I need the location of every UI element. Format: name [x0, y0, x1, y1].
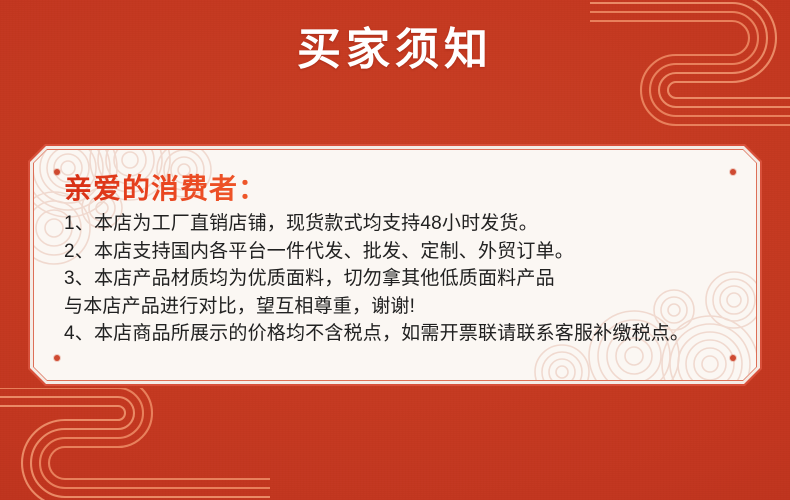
notice-line-list: 1、本店为工厂直销店铺，现货款式均支持48小时发货。 2、本店支持国内各平台一件… [64, 210, 732, 348]
page-title: 买家须知 [0, 22, 790, 78]
notice-line: 3、本店产品材质均为优质面料，切勿拿其他低质面料产品 [64, 265, 732, 293]
corner-dot-bottom-right-icon [730, 355, 736, 361]
notice-heading: 亲爱的消费者： [64, 172, 267, 206]
serpentine-lines-bottom-left-icon [0, 388, 270, 500]
corner-dot-bottom-left-icon [54, 355, 60, 361]
notice-line: 1、本店为工厂直销店铺，现货款式均支持48小时发货。 [64, 210, 732, 238]
corner-dot-top-left-icon [54, 169, 60, 175]
notice-line: 4、本店商品所展示的价格均不含税点，如需开票联请联系客服补缴税点。 [64, 320, 732, 348]
buyer-notice-poster: 买家须知 [0, 0, 790, 500]
card-body: 亲爱的消费者： 1、本店为工厂直销店铺，现货款式均支持48小时发货。 2、本店支… [34, 150, 756, 380]
notice-line: 2、本店支持国内各平台一件代发、批发、定制、外贸订单。 [64, 238, 732, 266]
notice-card: 亲爱的消费者： 1、本店为工厂直销店铺，现货款式均支持48小时发货。 2、本店支… [28, 144, 762, 386]
notice-content: 亲爱的消费者： 1、本店为工厂直销店铺，现货款式均支持48小时发货。 2、本店支… [64, 172, 732, 348]
notice-line: 与本店产品进行对比，望互相尊重，谢谢! [64, 293, 732, 321]
